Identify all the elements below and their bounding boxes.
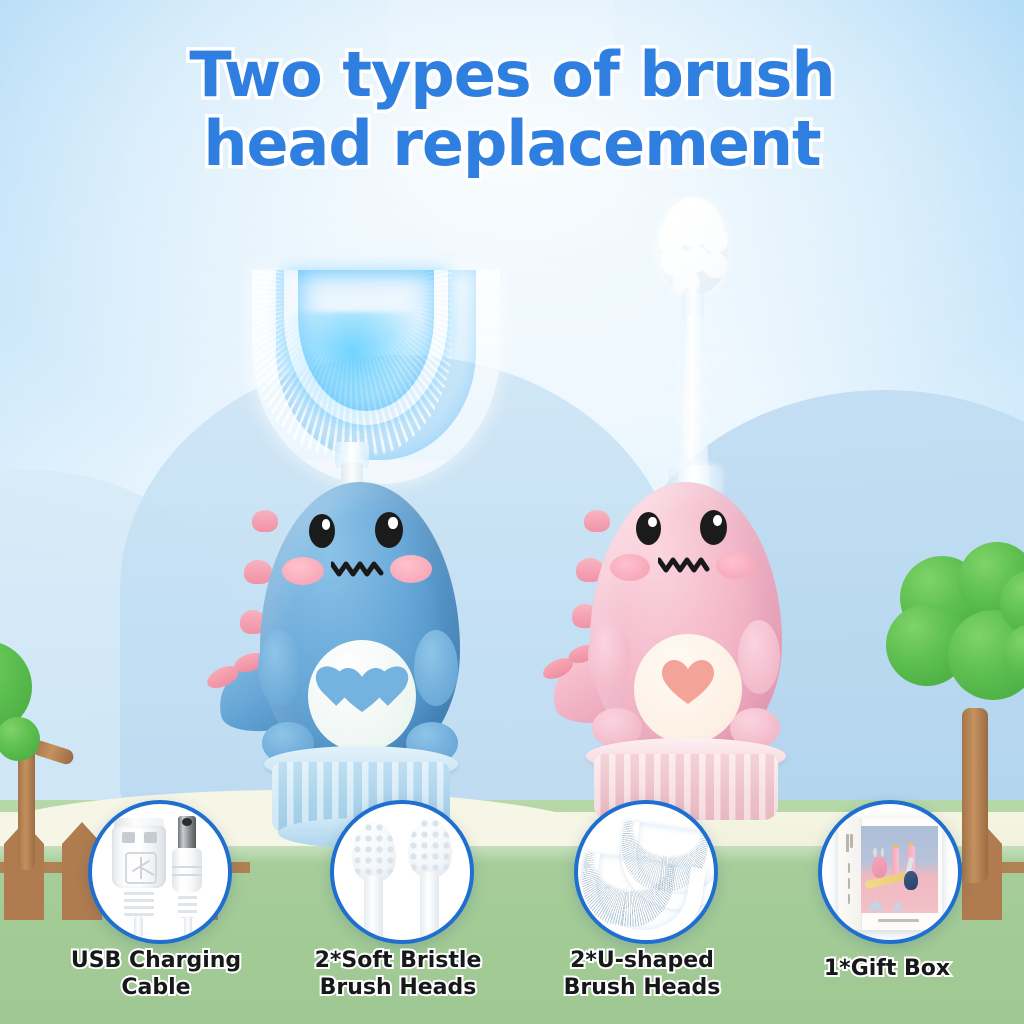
brush-head-right	[408, 818, 452, 878]
dc-plug-body	[172, 848, 202, 892]
gift-box-tube-cap	[893, 844, 897, 848]
title-line-1: Two types of brush	[0, 40, 1024, 109]
badge-gift-box[interactable]	[818, 800, 962, 944]
dino-blush-left	[282, 557, 324, 585]
usb-a-strain-relief	[124, 888, 154, 918]
dino-arm-left	[258, 630, 302, 706]
badge-soft-bristle-brush-heads[interactable]	[330, 800, 474, 944]
dc-plug-ring	[172, 866, 202, 868]
brush-stem-left	[364, 876, 383, 940]
page-title: Two types of brush head replacement	[0, 40, 1024, 179]
bristle-brush-head-icon	[334, 804, 470, 940]
gift-box-spine	[838, 818, 862, 930]
caption-soft-bristle-brush-heads: 2*Soft Bristle Brush Heads	[288, 948, 508, 1002]
brush-head-left	[352, 822, 396, 882]
gift-box-spine-text	[848, 878, 850, 888]
caption-line-1: 2*U-shaped	[530, 948, 754, 975]
bunny-ear	[881, 848, 884, 858]
usb-cable-wire	[134, 916, 143, 938]
caption-gift-box: 1*Gift Box	[780, 956, 994, 983]
gift-box-spine-text	[848, 863, 850, 873]
gift-box-bunny-toothbrush	[872, 856, 887, 879]
soft-bristle-brush-head	[658, 198, 728, 294]
heart-shape	[336, 668, 388, 714]
caption-u-shaped-brush-heads: 2*U-shaped Brush Heads	[530, 948, 754, 1002]
gift-box-spine-text	[850, 834, 853, 849]
brush-bristle-dots	[408, 818, 452, 878]
caption-line-1: 1*Gift Box	[780, 956, 994, 983]
caption-line-1: USB Charging	[46, 948, 266, 975]
dino-blush-left	[610, 554, 650, 581]
gift-box-spine-text	[846, 834, 849, 852]
dino-mouth	[331, 560, 385, 578]
dino-arm-left	[588, 620, 630, 694]
product-marketing-image: [data-name="dino-belly-heart"]::before,[…	[0, 0, 1024, 1024]
badge-u-shaped-brush-heads[interactable]	[574, 800, 718, 944]
dino-arm-right	[738, 620, 780, 694]
title-line-2: head replacement	[0, 109, 1024, 178]
bunny-ear	[873, 848, 876, 858]
dino-blush-right	[390, 555, 432, 583]
caption-line-1: 2*Soft Bristle	[288, 948, 508, 975]
blue-dinosaur-toothbrush: [data-name="dino-belly-heart"]::before,[…	[200, 270, 500, 830]
u-shaped-brush-head-icon	[578, 804, 714, 940]
dino-belly-heart: [data-name="dino-belly-heart"]::before,[…	[336, 668, 388, 714]
gift-box-tube	[892, 847, 900, 877]
dino-blush-right	[716, 552, 756, 579]
dino-mouth	[658, 556, 710, 574]
gift-box-rock	[867, 899, 884, 910]
dc-plug-hole	[182, 818, 192, 826]
gift-box-rock	[892, 901, 904, 911]
u-head-front	[576, 852, 677, 934]
gift-box-icon	[838, 818, 942, 930]
tree-trunk	[962, 708, 988, 883]
gift-box-photo	[861, 826, 938, 913]
u-shaped-brush-head	[252, 270, 452, 460]
caption-line-2: Brush Heads	[530, 975, 754, 1002]
usb-a-slot	[144, 832, 157, 843]
brush-stem-right	[420, 872, 439, 940]
gift-box-spine-text	[848, 894, 850, 904]
brush-bristles	[658, 198, 728, 294]
dino-spike	[252, 510, 278, 532]
dino-eye-left	[636, 512, 661, 545]
caption-line-2: Brush Heads	[288, 975, 508, 1002]
badge-usb-charging-cable[interactable]	[88, 800, 232, 944]
gift-box-tube-cap	[909, 842, 913, 846]
dino-eye-left	[309, 514, 335, 548]
dino-eye-right	[375, 512, 403, 548]
dc-plug-ring	[172, 874, 202, 876]
usb-logo	[125, 852, 157, 884]
brush-bristle-dots	[352, 822, 396, 882]
dino-eye-right	[700, 510, 727, 545]
dc-strain-relief	[178, 892, 197, 918]
usb-a-slot	[122, 832, 135, 843]
dc-cable-wire	[184, 916, 192, 940]
caption-line-2: Cable	[46, 975, 266, 1002]
pink-dinosaur-toothbrush	[540, 190, 840, 820]
usb-cable-icon	[92, 804, 228, 940]
dino-arm-right	[414, 630, 458, 706]
dino-spike	[584, 510, 610, 532]
gift-box-blue-toothbrush	[904, 871, 918, 890]
caption-usb-charging-cable: USB Charging Cable	[46, 948, 266, 1002]
gift-box-footer-text	[878, 919, 920, 922]
